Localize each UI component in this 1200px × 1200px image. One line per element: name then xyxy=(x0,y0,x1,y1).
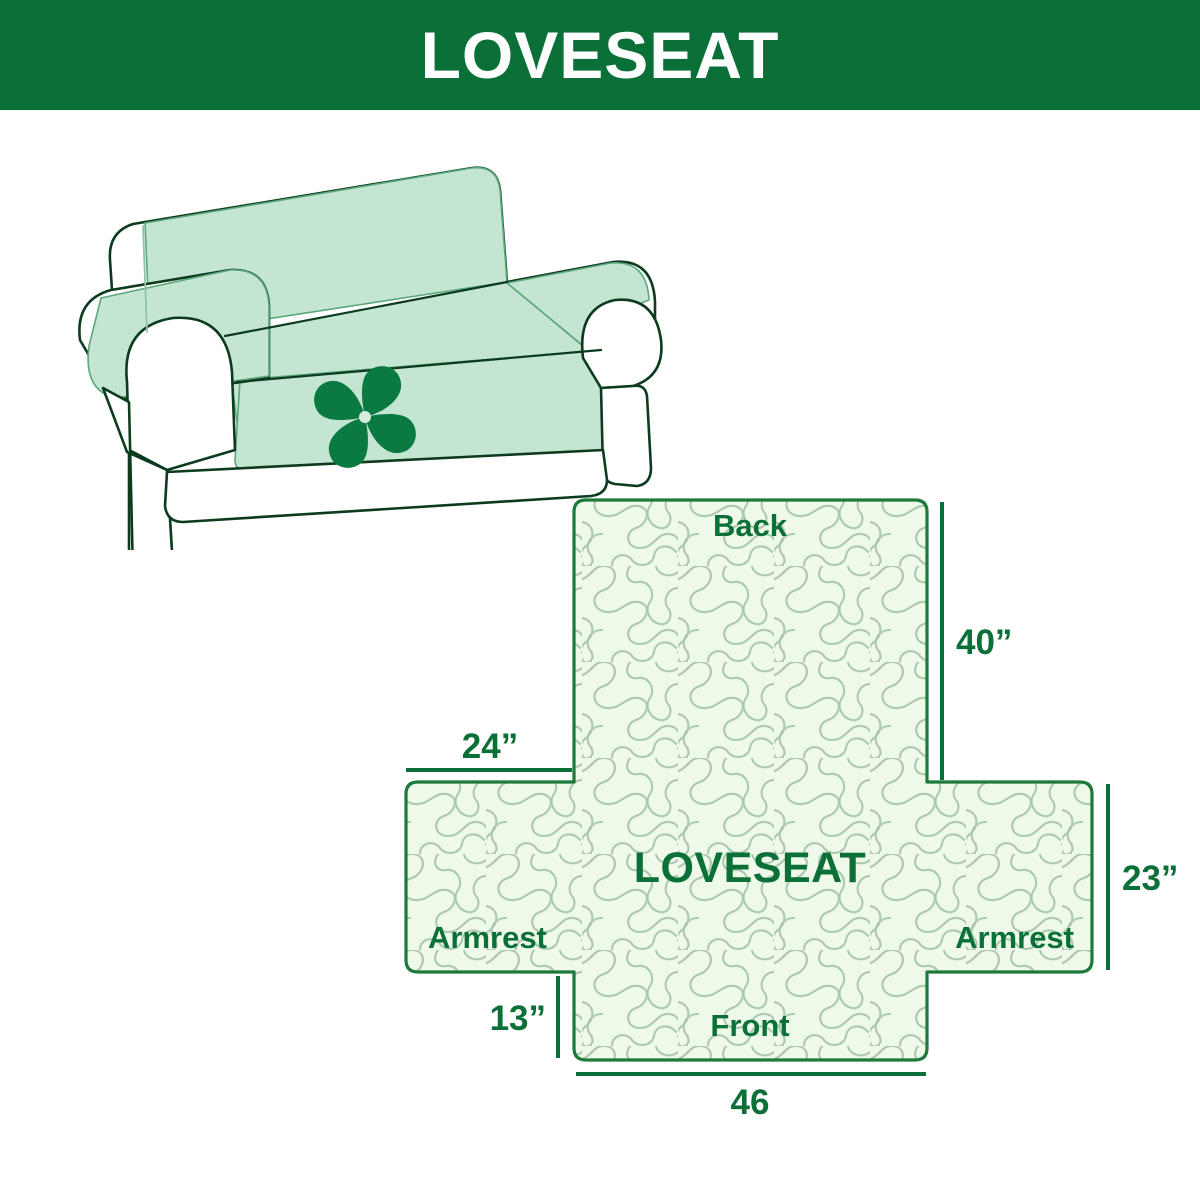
label-back: Back xyxy=(713,508,788,543)
cover-layout-diagram: Back LOVESEAT Armrest Armrest Front 40” … xyxy=(390,470,1200,1170)
dimension-back-width: 24” xyxy=(462,727,518,766)
label-armrest-left: Armrest xyxy=(428,920,547,955)
dimension-total-width: 46 xyxy=(731,1083,770,1122)
label-armrest-right: Armrest xyxy=(955,920,1074,955)
pinwheel-icon xyxy=(314,366,416,468)
sofa-right-arm-roll xyxy=(582,300,661,388)
dimension-back-height: 40” xyxy=(956,623,1012,662)
label-center-loveseat: LOVESEAT xyxy=(634,844,867,892)
label-front: Front xyxy=(710,1008,789,1043)
product-dimension-page: LOVESEAT xyxy=(0,0,1200,1200)
cross-cover-shape xyxy=(406,500,1092,1060)
dimension-armrest-height: 23” xyxy=(1122,859,1178,898)
page-title: LOVESEAT xyxy=(421,22,780,88)
page-header: LOVESEAT xyxy=(0,0,1200,110)
dimension-front-height: 13” xyxy=(490,999,546,1038)
sofa-left-arm-roll xyxy=(126,318,235,470)
